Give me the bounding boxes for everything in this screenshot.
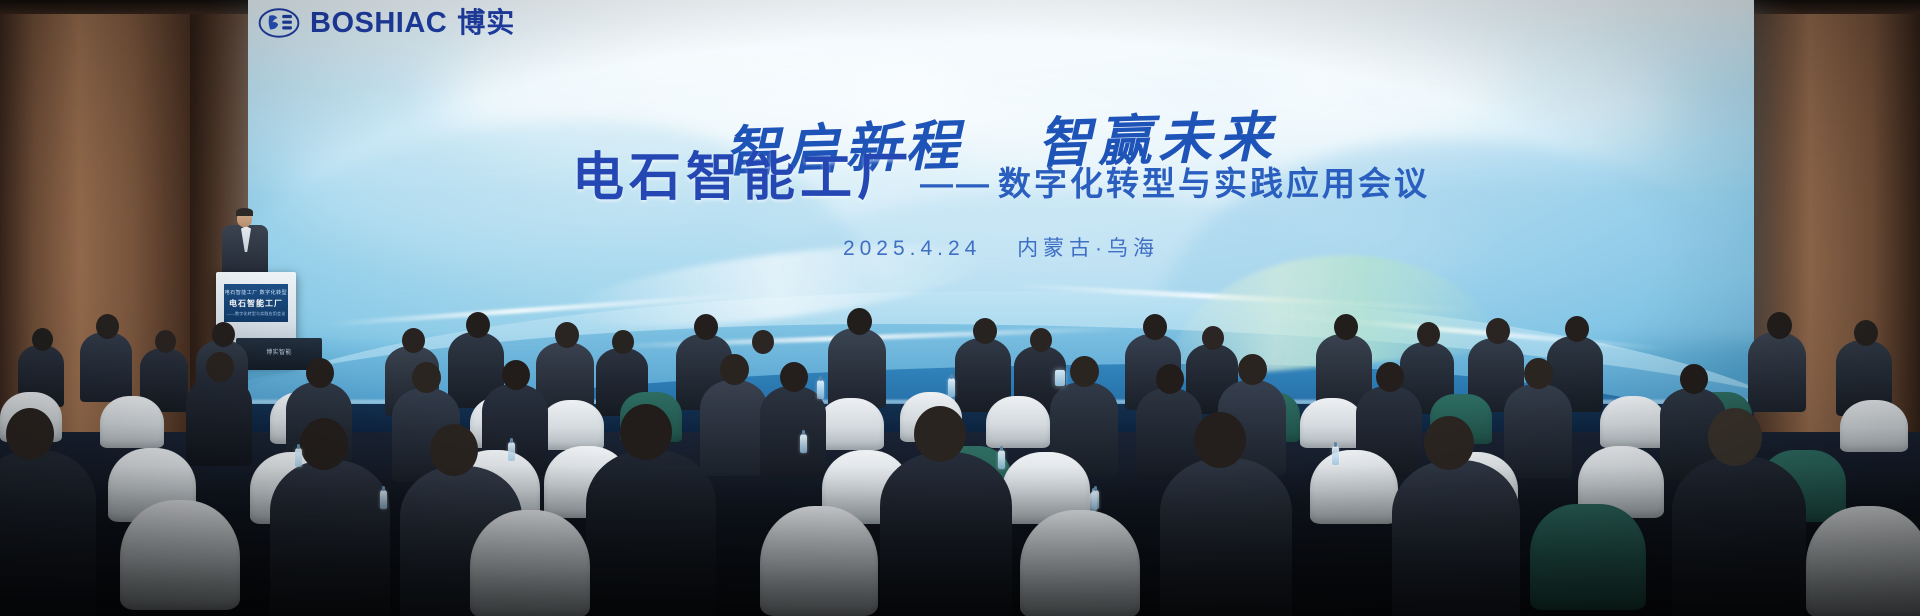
audience-person bbox=[1504, 384, 1572, 478]
audience-person bbox=[270, 460, 390, 616]
audience-head bbox=[1238, 354, 1267, 385]
audience-head bbox=[6, 408, 54, 460]
audience-chair bbox=[100, 396, 164, 448]
podium-sign-line-1: 电石智能工厂 数字化转型 bbox=[225, 289, 287, 296]
audience-person bbox=[1748, 332, 1806, 412]
audience-chair bbox=[1300, 398, 1364, 448]
audience-person bbox=[1160, 458, 1292, 616]
audience-head bbox=[1854, 320, 1878, 346]
audience-chair bbox=[818, 398, 884, 450]
audience-head bbox=[1708, 408, 1762, 466]
audience-chair bbox=[1310, 450, 1398, 524]
audience-head bbox=[300, 418, 348, 470]
audience-head bbox=[1334, 314, 1358, 340]
audience-head bbox=[694, 314, 718, 340]
audience-chair bbox=[760, 506, 878, 616]
audience-chair bbox=[1600, 396, 1666, 448]
event-dateline: 2025.4.24 内蒙古·乌海 bbox=[248, 232, 1754, 262]
audience-head bbox=[1030, 328, 1052, 352]
audience-head bbox=[402, 328, 425, 353]
headline-subtitle: 数字化转型与实践应用会议 bbox=[998, 167, 1430, 204]
audience-chair bbox=[540, 400, 604, 450]
water-bottle bbox=[508, 442, 515, 461]
audience-person bbox=[1672, 456, 1806, 616]
audience-chair bbox=[1806, 506, 1920, 616]
audience-person bbox=[880, 452, 1012, 616]
audience-person bbox=[760, 386, 826, 478]
audience-head bbox=[1194, 412, 1246, 468]
audience-head bbox=[1156, 364, 1184, 394]
water-bottle bbox=[1092, 490, 1099, 509]
water-bottle bbox=[380, 490, 387, 509]
event-location: 内蒙古·乌海 bbox=[1017, 237, 1159, 260]
brand-lockup: BOSHIAC 博实 bbox=[258, 6, 515, 40]
audience-person bbox=[828, 328, 886, 408]
brand-latin-name: BOSHIAC bbox=[310, 9, 447, 38]
audience-head bbox=[96, 314, 119, 339]
headline-main-title: 电石智能工厂 bbox=[572, 152, 914, 204]
water-bottle bbox=[817, 380, 824, 399]
audience-chair bbox=[120, 500, 240, 610]
audience-head bbox=[752, 330, 774, 354]
audience-head bbox=[155, 330, 176, 353]
audience-person bbox=[80, 332, 132, 402]
water-bottle bbox=[1332, 446, 1339, 465]
audience-person bbox=[700, 380, 768, 476]
audience-chair bbox=[1840, 400, 1908, 452]
audience-head bbox=[1524, 358, 1553, 389]
audience-chair bbox=[1020, 510, 1140, 616]
water-bottle bbox=[800, 434, 807, 453]
audience-head bbox=[412, 362, 441, 393]
audience-head bbox=[612, 330, 634, 354]
audience-area bbox=[0, 300, 1920, 616]
headline-row: 电石智能工厂 —— 数字化转型与实践应用会议 bbox=[248, 152, 1754, 204]
audience-head bbox=[973, 318, 997, 344]
audience-head bbox=[502, 360, 530, 390]
audience-head bbox=[1070, 356, 1099, 387]
audience-head bbox=[914, 406, 966, 462]
audience-head bbox=[1565, 316, 1589, 342]
audience-head bbox=[466, 312, 490, 338]
event-date: 2025.4.24 bbox=[843, 237, 981, 260]
audience-head bbox=[212, 322, 235, 347]
audience-head bbox=[620, 404, 672, 460]
audience-phone bbox=[1055, 370, 1065, 386]
audience-head bbox=[1417, 322, 1440, 347]
conference-photo: BOSHIAC 博实 智启新程 智赢未来 电石智能工厂 —— 数字化转型与实践应… bbox=[0, 0, 1920, 616]
audience-head bbox=[1424, 416, 1474, 470]
audience-chair bbox=[1530, 504, 1646, 610]
audience-person bbox=[186, 376, 252, 466]
audience-head bbox=[1202, 326, 1224, 350]
audience-head bbox=[847, 308, 872, 335]
audience-head bbox=[1376, 362, 1404, 392]
water-bottle bbox=[998, 450, 1005, 469]
speaker-hair bbox=[236, 208, 253, 216]
audience-head bbox=[1680, 364, 1708, 394]
audience-chair bbox=[986, 396, 1050, 448]
audience-head bbox=[780, 362, 808, 392]
audience-head bbox=[206, 352, 234, 382]
audience-head bbox=[1486, 318, 1510, 344]
audience-person bbox=[0, 450, 96, 616]
audience-chair bbox=[470, 510, 590, 616]
audience-head bbox=[1767, 312, 1792, 339]
boshiac-emblem-icon bbox=[258, 6, 300, 40]
brand-chinese-name: 博实 bbox=[457, 9, 515, 37]
audience-head bbox=[555, 322, 579, 348]
audience-person bbox=[586, 450, 716, 616]
water-bottle bbox=[295, 448, 302, 467]
audience-head bbox=[430, 424, 478, 476]
audience-head bbox=[1143, 314, 1167, 340]
audience-head bbox=[306, 358, 334, 388]
audience-head bbox=[720, 354, 749, 385]
water-bottle bbox=[948, 378, 955, 397]
headline-dash: —— bbox=[920, 167, 992, 204]
audience-head bbox=[32, 328, 53, 351]
audience-person bbox=[1392, 460, 1520, 616]
